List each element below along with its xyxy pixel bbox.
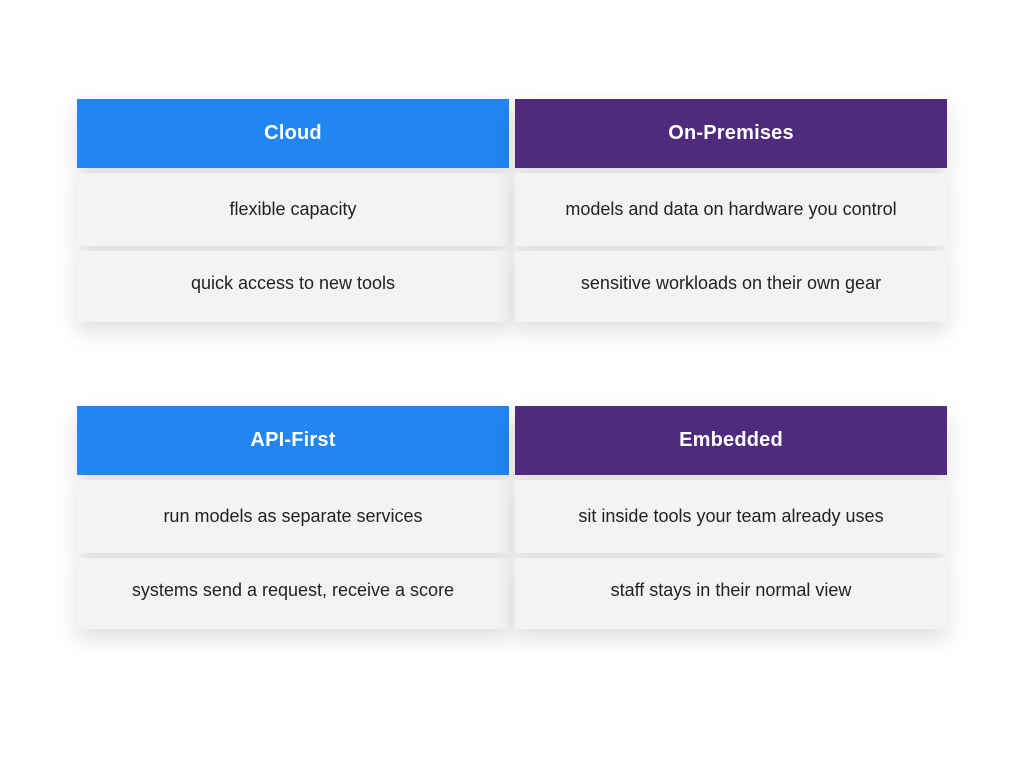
column-header-on-premises: On-Premises [515, 99, 947, 168]
column-cell: staff stays in their normal view [515, 558, 947, 629]
slide-canvas: Cloud flexible capacity quick access to … [0, 0, 1024, 768]
comparison-column-on-premises: On-Premises models and data on hardware … [515, 99, 947, 322]
column-header-api-first: API-First [77, 406, 509, 475]
comparison-table-2: API-First run models as separate service… [77, 406, 947, 629]
column-cell: sit inside tools your team already uses [515, 480, 947, 553]
comparison-table-1: Cloud flexible capacity quick access to … [77, 99, 947, 322]
column-cell: run models as separate services [77, 480, 509, 553]
column-cell: sensitive workloads on their own gear [515, 251, 947, 322]
comparison-column-cloud: Cloud flexible capacity quick access to … [77, 99, 509, 322]
column-cell: systems send a request, receive a score [77, 558, 509, 629]
column-header-cloud: Cloud [77, 99, 509, 168]
comparison-column-api-first: API-First run models as separate service… [77, 406, 509, 629]
column-cell: models and data on hardware you control [515, 173, 947, 246]
column-cell: flexible capacity [77, 173, 509, 246]
column-cell: quick access to new tools [77, 251, 509, 322]
column-header-embedded: Embedded [515, 406, 947, 475]
comparison-column-embedded: Embedded sit inside tools your team alre… [515, 406, 947, 629]
